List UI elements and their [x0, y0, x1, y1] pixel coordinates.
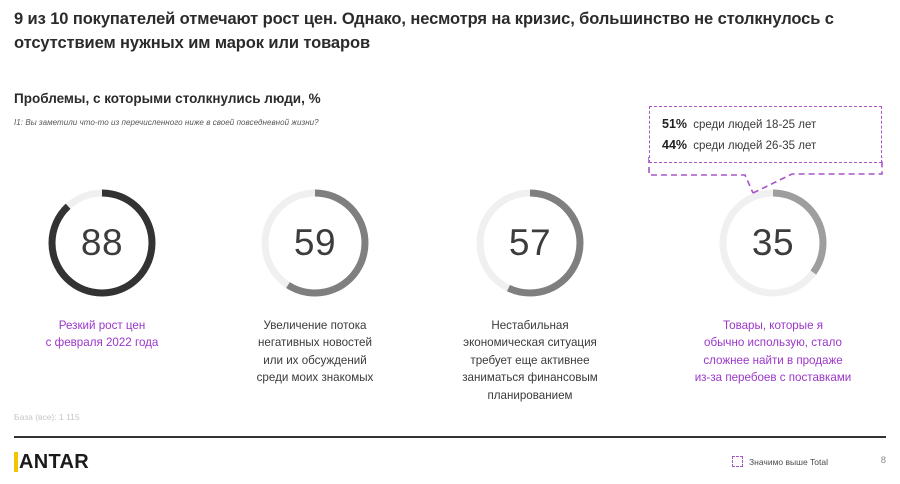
donut-label-0: Резкий рост цен с февраля 2022 года [0, 317, 210, 352]
donut-label-line: Увеличение потока [207, 317, 423, 334]
page-headline: 9 из 10 покупателей отмечают рост цен. О… [14, 8, 886, 56]
donut-label-line: Резкий рост цен [0, 317, 210, 334]
callout-description: среди людей 26-35 лет [693, 140, 816, 152]
callout-description: среди людей 18-25 лет [693, 119, 816, 131]
logo-text: ANTAR [19, 452, 89, 472]
survey-question-text: I1: Вы заметили что-то из перечисленного… [14, 118, 319, 127]
donut-label-line: сложнее найти в продаже [658, 352, 888, 369]
donut-label-2: Нестабильная экономическая ситуация треб… [422, 317, 638, 404]
donut-label-line: или их обсуждений [207, 352, 423, 369]
donut-label-line: Товары, которые я [658, 317, 888, 334]
legend-label: Значимо выше Total [749, 457, 828, 467]
donut-item: 57 Нестабильная экономическая ситуация т… [422, 186, 638, 404]
section-title: Проблемы, с которыми столкнулись люди, % [14, 91, 321, 106]
callout-line: 51% среди людей 18-25 лет [662, 114, 871, 135]
donut-chart-3: 35 [716, 186, 830, 300]
donut-chart-1: 59 [258, 186, 372, 300]
donut-chart-row: 88 Резкий рост цен с февраля 2022 года 5… [0, 186, 900, 396]
donut-label-line: обычно использую, стало [658, 334, 888, 351]
donut-label-line: заниматься финансовым [422, 369, 638, 386]
donut-label-line: Нестабильная [422, 317, 638, 334]
significance-legend: Значимо выше Total [732, 456, 828, 467]
donut-label-line: экономическая ситуация [422, 334, 638, 351]
significance-callout: 51% среди людей 18-25 лет 44% среди люде… [649, 106, 882, 163]
callout-percent: 44% [662, 138, 687, 152]
donut-item: 59 Увеличение потока негативных новостей… [207, 186, 423, 387]
donut-label-line: из-за перебоев с поставками [658, 369, 888, 386]
logo-accent-bar-icon [14, 452, 18, 472]
donut-item: 35 Товары, которые я обычно использую, с… [665, 186, 881, 387]
donut-chart-0: 88 [45, 186, 159, 300]
page-number: 8 [881, 455, 886, 466]
donut-label-line: требует еще активнее [422, 352, 638, 369]
donut-label-line: среди моих знакомых [207, 369, 423, 386]
footer-divider [14, 436, 886, 438]
donut-value-0: 88 [45, 186, 159, 300]
dashed-square-icon [732, 456, 743, 467]
callout-line: 44% среди людей 26-35 лет [662, 135, 871, 156]
donut-label-line: негативных новостей [207, 334, 423, 351]
donut-label-line: с февраля 2022 года [0, 334, 210, 351]
donut-chart-2: 57 [473, 186, 587, 300]
base-note: База (все): 1 115 [14, 412, 80, 422]
donut-value-2: 57 [473, 186, 587, 300]
donut-label-3: Товары, которые я обычно использую, стал… [658, 317, 888, 387]
donut-value-1: 59 [258, 186, 372, 300]
donut-value-3: 35 [716, 186, 830, 300]
donut-item: 88 Резкий рост цен с февраля 2022 года [0, 186, 210, 352]
callout-percent: 51% [662, 117, 687, 131]
donut-label-line: планированием [422, 387, 638, 404]
kantar-logo: ANTAR [14, 452, 89, 472]
donut-label-1: Увеличение потока негативных новостей ил… [207, 317, 423, 387]
